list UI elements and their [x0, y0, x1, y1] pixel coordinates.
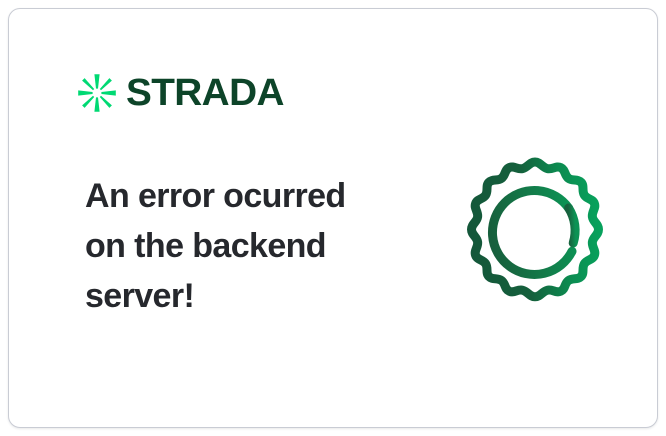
- error-card: STRADA An error ocurred on the backend s…: [8, 8, 658, 428]
- brand-lockup: STRADA: [77, 71, 281, 115]
- error-page: STRADA An error ocurred on the backend s…: [0, 0, 666, 436]
- gear-cog-icon: [454, 151, 616, 313]
- gear-illustration: [454, 151, 616, 313]
- brand-wordmark: STRADA: [126, 74, 284, 112]
- error-headline: An error ocurred on the backend server!: [85, 171, 385, 321]
- strada-asterisk-icon: [77, 73, 117, 113]
